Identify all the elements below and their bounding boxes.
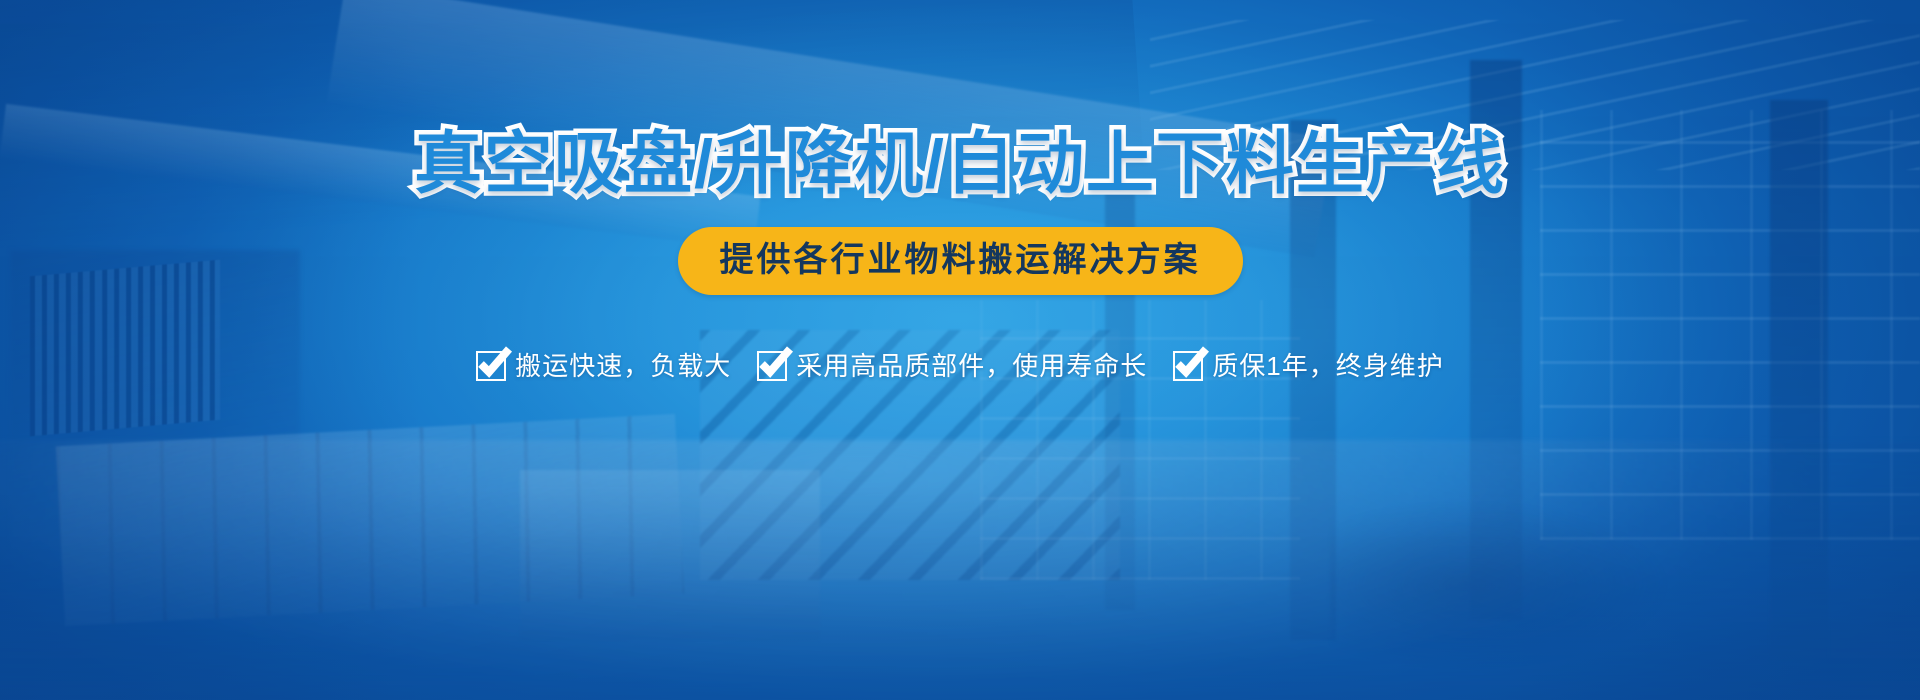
- checkbox-checked-icon: [476, 351, 506, 381]
- feature-label: 质保1年，终身维护: [1212, 353, 1443, 379]
- banner-headline: 真空吸盘/升降机/自动上下料生产线: [414, 128, 1506, 201]
- feature-item: 采用高品质部件，使用寿命长: [757, 351, 1147, 381]
- checkbox-checked-icon: [1173, 351, 1203, 381]
- feature-label: 搬运快速，负载大: [515, 353, 731, 379]
- feature-item: 质保1年，终身维护: [1173, 351, 1443, 381]
- banner-subtitle-badge: 提供各行业物料搬运解决方案: [678, 227, 1243, 295]
- feature-list: 搬运快速，负载大 采用高品质部件，使用寿命长 质保1年，终身维护: [476, 351, 1444, 381]
- feature-label: 采用高品质部件，使用寿命长: [796, 353, 1147, 379]
- banner-content: 真空吸盘/升降机/自动上下料生产线 提供各行业物料搬运解决方案 搬运快速，负载大…: [0, 0, 1920, 700]
- feature-item: 搬运快速，负载大: [476, 351, 731, 381]
- hero-banner: 真空吸盘/升降机/自动上下料生产线 提供各行业物料搬运解决方案 搬运快速，负载大…: [0, 0, 1920, 700]
- checkbox-checked-icon: [757, 351, 787, 381]
